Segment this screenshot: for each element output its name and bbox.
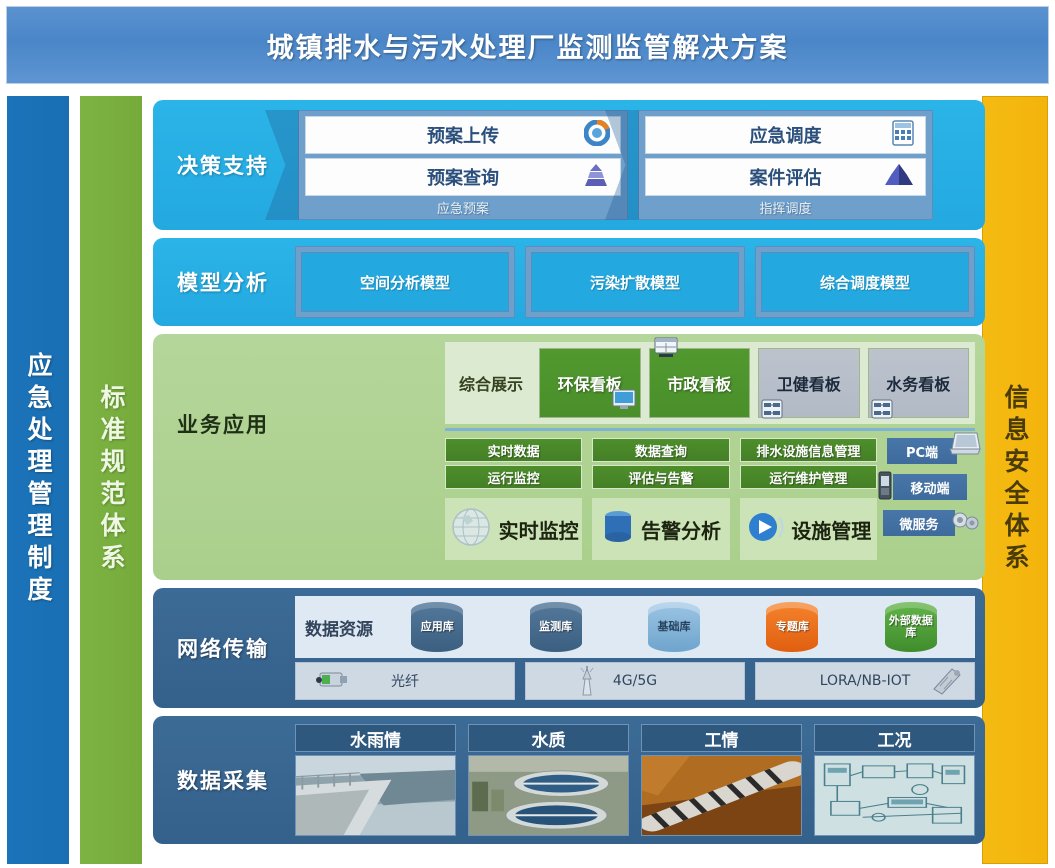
- sedimentation-tanks-photo: [468, 755, 629, 836]
- chip-label: 数据查询: [635, 441, 687, 460]
- database-monitoring[interactable]: 监测库: [501, 602, 609, 652]
- pillar-label: 标准规范体系: [93, 384, 129, 576]
- business-column-list: 实时数据 运行监控 实时监控: [445, 438, 877, 560]
- pillar-information-security-system: 信息安全体系: [982, 96, 1048, 864]
- business-feature-label: 告警分析: [641, 515, 721, 544]
- decision-item-emergency-dispatch[interactable]: 应急调度: [645, 116, 926, 154]
- board-label: 市政看板: [667, 371, 731, 395]
- business-chip-operation-monitor[interactable]: 运行监控: [445, 465, 582, 489]
- antenna-tower-icon: [576, 665, 598, 701]
- layer-label-network-transmission: 网络传输: [153, 588, 293, 708]
- layer-business-application: 业务应用 综合展示 环保看板 市政看板: [153, 334, 985, 580]
- sensor-module-icon: [930, 665, 964, 699]
- business-column-query: 数据查询 评估与告警 告警分析: [592, 438, 729, 560]
- database-label: 监测库: [539, 621, 572, 633]
- business-feature-realtime-monitoring[interactable]: 实时监控: [445, 498, 582, 560]
- database-label: 专题库: [776, 621, 809, 633]
- laptop-icon: [949, 431, 981, 461]
- data-resource-caption: 数据资源: [305, 615, 373, 640]
- layer-label-business-application: 业务应用: [153, 394, 293, 454]
- database-label: 基础库: [658, 621, 691, 633]
- database-label: 应用库: [421, 621, 454, 633]
- model-box-label: 综合调度模型: [820, 272, 910, 293]
- database-external[interactable]: 外部数据库: [857, 602, 965, 652]
- window-icon: [654, 337, 678, 363]
- layer-label-data-acquisition: 数据采集: [153, 716, 293, 844]
- pillar-standards-specification-system: 标准规范体系: [80, 96, 142, 864]
- layer-label-model-analysis: 模型分析: [153, 238, 293, 326]
- model-box-spatial-analysis[interactable]: 空间分析模型: [295, 246, 515, 318]
- page-title: 城镇排水与污水处理厂监测监管解决方案: [267, 26, 789, 65]
- business-chip-realtime-data[interactable]: 实时数据: [445, 438, 582, 462]
- cycle-refresh-icon: [584, 120, 610, 150]
- decision-item-plan-query[interactable]: 预案查询: [305, 158, 621, 196]
- business-chip-assessment-alarm[interactable]: 评估与告警: [592, 465, 729, 489]
- layer-label-decision-support: 决策支持: [153, 100, 293, 230]
- business-chip-operation-maintenance[interactable]: 运行维护管理: [740, 465, 877, 489]
- chip-label: 评估与告警: [628, 468, 693, 487]
- gears-icon: [949, 507, 981, 537]
- page-header: 城镇排水与污水处理厂监测监管解决方案: [6, 6, 1049, 84]
- network-link-fiber[interactable]: 光纤: [295, 662, 515, 700]
- database-label: 外部数据库: [885, 615, 937, 639]
- decision-group-caption: 指挥调度: [645, 200, 926, 220]
- model-box-label: 污染扩散模型: [590, 272, 680, 293]
- fiber-cable-icon: [314, 667, 348, 697]
- board-environmental-protection[interactable]: 环保看板: [539, 348, 641, 418]
- business-chip-drainage-facility-info[interactable]: 排水设施信息管理: [740, 438, 877, 462]
- decision-item-plan-upload[interactable]: 预案上传: [305, 116, 621, 154]
- layer-model-analysis: 模型分析 空间分析模型 污染扩散模型 综合调度模型: [153, 238, 985, 326]
- data-card-project-status[interactable]: 工情: [641, 724, 802, 836]
- board-water-affairs[interactable]: 水务看板: [868, 348, 970, 418]
- chip-label: 排水设施信息管理: [756, 441, 860, 460]
- network-link-label: LORA/NB-IOT: [820, 673, 911, 689]
- decision-group-caption: 应急预案: [305, 200, 621, 220]
- scada-schematic-photo: [814, 755, 975, 836]
- network-link-lora-nbiot[interactable]: LORA/NB-IOT: [755, 662, 975, 700]
- section-divider: [445, 428, 975, 431]
- database-application[interactable]: 应用库: [383, 602, 491, 652]
- business-chip-data-query[interactable]: 数据查询: [592, 438, 729, 462]
- client-badge-mobile[interactable]: 移动端: [893, 474, 967, 500]
- globe-icon: [449, 505, 493, 553]
- business-feature-facility-management[interactable]: 设施管理: [740, 498, 877, 560]
- decision-item-label: 预案上传: [427, 122, 499, 148]
- business-feature-alarm-analysis[interactable]: 告警分析: [592, 498, 729, 560]
- data-card-label: 水质: [532, 726, 566, 751]
- client-label: 移动端: [910, 478, 949, 497]
- decision-item-label: 应急调度: [750, 122, 822, 148]
- layer-decision-support: 决策支持 预案上传 预案查询: [153, 100, 985, 230]
- model-box-pollution-diffusion[interactable]: 污染扩散模型: [525, 246, 745, 318]
- data-card-label: 水雨情: [350, 726, 401, 751]
- network-link-label: 光纤: [391, 671, 419, 691]
- decision-item-label: 预案查询: [427, 164, 499, 190]
- architecture-stack: 决策支持 预案上传 预案查询: [153, 100, 985, 844]
- org-chart-icon: [761, 399, 783, 423]
- network-link-list: 光纤 4G/5G LORA/NB-IOT: [295, 662, 975, 700]
- data-resource-panel: 数据资源 应用库 监测库 基础库 专题库 外部数据库: [295, 596, 975, 658]
- database-thematic[interactable]: 专题库: [738, 602, 846, 652]
- chip-label: 实时数据: [488, 441, 540, 460]
- play-circle-icon: [745, 507, 785, 551]
- pillar-emergency-management-system: 应急处理管理制度: [7, 96, 69, 864]
- board-municipal[interactable]: 市政看板: [649, 348, 751, 418]
- comprehensive-display-caption: 综合展示: [451, 371, 531, 395]
- pillar-label: 信息安全体系: [997, 384, 1033, 576]
- board-health[interactable]: 卫健看板: [758, 348, 860, 418]
- data-card-operating-condition[interactable]: 工况: [814, 724, 975, 836]
- business-feature-label: 实时监控: [499, 515, 579, 544]
- client-badge-list: PC端 移动端: [879, 438, 977, 560]
- layer-data-acquisition: 数据采集 水雨情: [153, 716, 985, 844]
- board-label: 水务看板: [886, 371, 950, 395]
- decision-group-command-dispatch: 应急调度 案件评估: [638, 110, 933, 220]
- pipeline-trench-photo: [641, 755, 802, 836]
- pyramid-icon: [582, 163, 610, 191]
- database-icon: [601, 508, 635, 550]
- monitor-icon: [612, 389, 636, 415]
- org-chart-icon: [871, 399, 893, 423]
- model-box-integrated-dispatch[interactable]: 综合调度模型: [755, 246, 975, 318]
- decision-group-emergency-plan: 预案上传 预案查询: [298, 110, 628, 220]
- client-label: PC端: [906, 442, 938, 461]
- data-card-list: 水雨情: [295, 724, 975, 836]
- data-card-water-rain[interactable]: 水雨情: [295, 724, 456, 836]
- business-column-facility: 排水设施信息管理 运行维护管理 设施管理: [740, 438, 877, 560]
- pyramid-dark-icon: [883, 163, 915, 191]
- network-link-cellular[interactable]: 4G/5G: [525, 662, 745, 700]
- comprehensive-display-panel: 综合展示 环保看板 市政看板: [445, 342, 975, 424]
- client-label: 微服务: [899, 514, 938, 533]
- decision-item-label: 案件评估: [750, 164, 822, 190]
- river-embankment-photo: [295, 755, 456, 836]
- network-link-label: 4G/5G: [613, 673, 657, 689]
- model-box-list: 空间分析模型 污染扩散模型 综合调度模型: [295, 246, 975, 318]
- calculator-grid-icon: [891, 120, 915, 150]
- data-card-water-quality[interactable]: 水质: [468, 724, 629, 836]
- business-column-realtime: 实时数据 运行监控 实时监控: [445, 438, 582, 560]
- business-feature-label: 设施管理: [791, 515, 871, 544]
- board-label: 卫健看板: [777, 371, 841, 395]
- client-badge-microservice[interactable]: 微服务: [883, 510, 955, 536]
- decision-item-case-assessment[interactable]: 案件评估: [645, 158, 926, 196]
- mobile-phone-icon: [877, 471, 893, 505]
- chip-label: 运行监控: [488, 468, 540, 487]
- database-foundation[interactable]: 基础库: [620, 602, 728, 652]
- data-card-label: 工情: [705, 726, 739, 751]
- data-card-label: 工况: [878, 726, 912, 751]
- pillar-label: 应急处理管理制度: [20, 352, 56, 608]
- client-badge-pc[interactable]: PC端: [887, 438, 957, 464]
- model-box-label: 空间分析模型: [360, 272, 450, 293]
- chip-label: 运行维护管理: [769, 468, 847, 487]
- layer-network-transmission: 网络传输 数据资源 应用库 监测库 基础库 专题库 外部数: [153, 588, 985, 708]
